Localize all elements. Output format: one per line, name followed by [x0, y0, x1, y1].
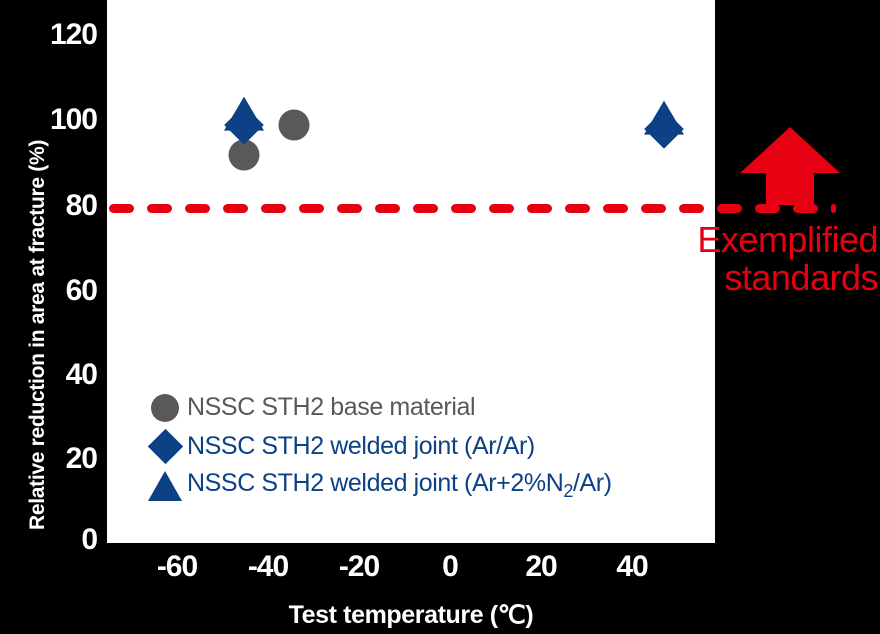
legend-label-prefix: NSSC STH2 welded joint (Ar+2%N — [187, 469, 563, 497]
threshold-arrow-up-icon — [740, 127, 840, 210]
threshold-dash — [337, 204, 362, 213]
y-tick-label-20: 20 — [21, 444, 97, 474]
y-tick-label-80: 80 — [21, 191, 97, 221]
threshold-dash — [679, 204, 704, 213]
legend-label-suffix: /Ar) — [573, 469, 612, 497]
threshold-annotation-line2: standards — [697, 259, 878, 297]
threshold-line — [109, 204, 836, 213]
y-tick-label-60: 60 — [21, 276, 97, 306]
threshold-dash — [185, 204, 210, 213]
x-tick-label-40: 40 — [592, 552, 672, 582]
threshold-dash — [261, 204, 286, 213]
legend-item-welded-joint-ar-ar[interactable]: NSSC STH2 welded joint (Ar/Ar) — [143, 427, 612, 466]
threshold-annotation: Exemplified standards — [697, 221, 878, 297]
legend-label-subscript: 2 — [563, 481, 573, 501]
triangle-marker-icon — [143, 469, 187, 503]
legend-item-base-material[interactable]: NSSC STH2 base material — [143, 388, 612, 427]
threshold-dash — [299, 204, 324, 213]
y-tick-label-40: 40 — [21, 360, 97, 390]
x-tick-label-20: 20 — [501, 552, 581, 582]
x-tick-label--60: -60 — [137, 552, 217, 582]
y-tick-label-120: 120 — [21, 20, 97, 50]
y-tick-label-0: 0 — [21, 525, 97, 555]
threshold-dash — [717, 204, 742, 213]
x-tick-label-0: 0 — [410, 552, 490, 582]
threshold-dash — [527, 204, 552, 213]
x-tick-label--40: -40 — [228, 552, 308, 582]
data-point-circle — [279, 110, 310, 141]
threshold-dash — [451, 204, 476, 213]
legend-item-welded-joint-ar-n2-ar[interactable]: NSSC STH2 welded joint (Ar+2%N2/Ar) — [143, 466, 612, 505]
circle-marker-icon — [143, 391, 187, 425]
x-tick-label--20: -20 — [319, 552, 399, 582]
legend-label-welded-joint-ar-n2-ar: NSSC STH2 welded joint (Ar+2%N2/Ar) — [187, 469, 612, 502]
threshold-dash — [147, 204, 172, 213]
legend-label-base-material: NSSC STH2 base material — [187, 393, 475, 422]
threshold-dash — [565, 204, 590, 213]
threshold-dash — [603, 204, 628, 213]
chart-figure: Relative reduction in area at fracture (… — [0, 0, 880, 634]
threshold-dash — [489, 204, 514, 213]
threshold-dash — [641, 204, 666, 213]
threshold-dash — [413, 204, 438, 213]
diamond-marker-icon — [143, 430, 187, 464]
threshold-dash — [223, 204, 248, 213]
legend-label-welded-joint-ar-ar: NSSC STH2 welded joint (Ar/Ar) — [187, 432, 535, 461]
y-tick-label-100: 100 — [21, 105, 97, 135]
threshold-dash — [375, 204, 400, 213]
threshold-dash — [109, 204, 134, 213]
x-axis-label: Test temperature (℃) — [107, 600, 715, 630]
threshold-annotation-line1: Exemplified — [697, 221, 878, 259]
chart-legend: NSSC STH2 base material NSSC STH2 welded… — [143, 388, 612, 505]
